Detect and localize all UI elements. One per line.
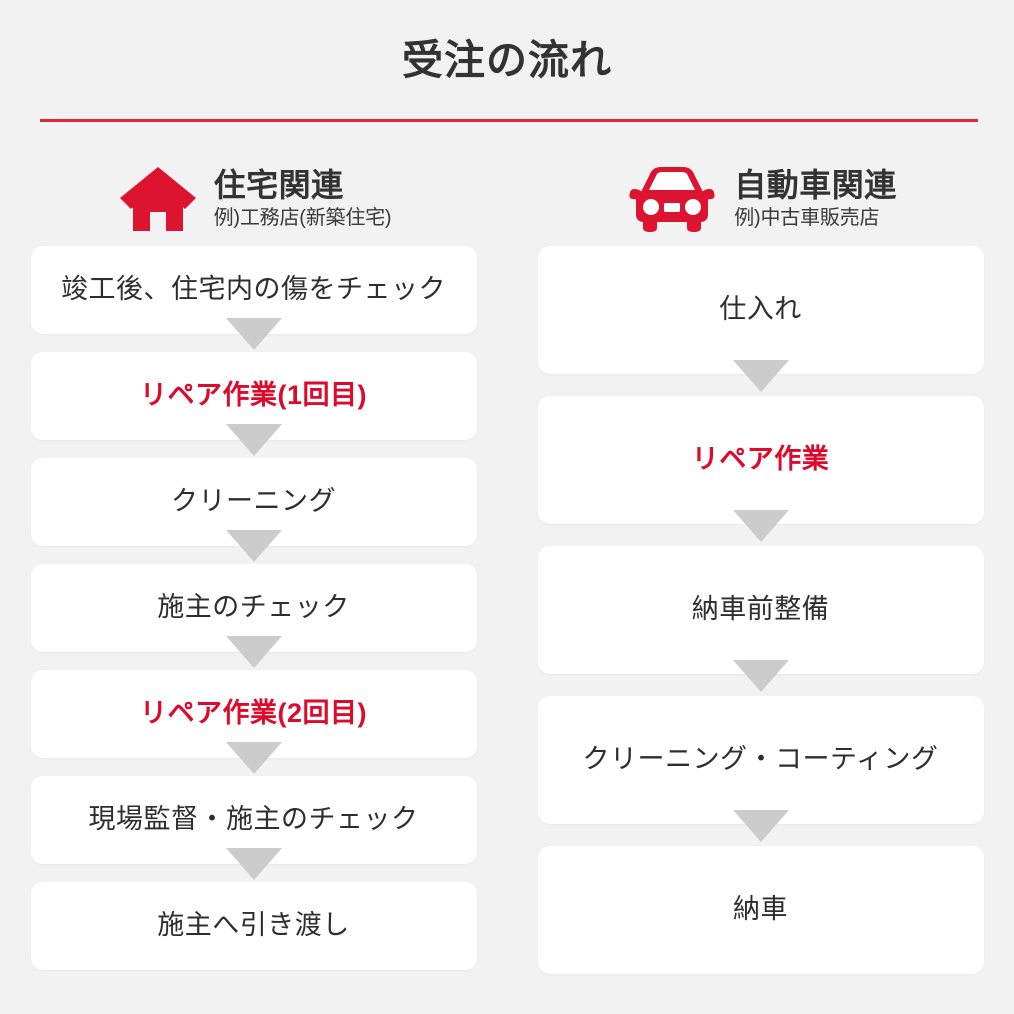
arrow-down-icon <box>226 636 282 668</box>
step-card[interactable]: 納車 <box>538 846 984 974</box>
arrow-down-icon <box>733 660 789 692</box>
step-label: 施主へ引き渡し <box>145 909 362 943</box>
column-title-housing: 住宅関連 <box>214 168 392 204</box>
step-card[interactable]: 納車前整備 <box>538 546 984 674</box>
step-card[interactable]: 現場監督・施主のチェック <box>31 776 477 864</box>
column-header-automotive: 自動車関連 例)中古車販売店 <box>507 152 1014 246</box>
column-title-automotive: 自動車関連 <box>734 168 897 204</box>
arrow-down-icon <box>733 360 789 392</box>
arrow-down-icon <box>226 848 282 880</box>
column-header-text-housing: 住宅関連 例)工務店(新築住宅) <box>214 168 392 230</box>
step-card[interactable]: 竣工後、住宅内の傷をチェック <box>31 246 477 334</box>
steps-housing: 竣工後、住宅内の傷をチェック リペア作業(1回目) クリーニング 施主のチェック… <box>0 246 507 970</box>
step-card[interactable]: 施主のチェック <box>31 564 477 652</box>
arrow-down-icon <box>733 810 789 842</box>
step-label: 納車前整備 <box>680 593 842 627</box>
arrow-down-icon <box>226 424 282 456</box>
column-header-housing: 住宅関連 例)工務店(新築住宅) <box>0 152 507 246</box>
steps-automotive: 仕入れ リペア作業 納車前整備 クリーニング・コーティング 納車 <box>507 246 1014 974</box>
arrow-down-icon <box>226 530 282 562</box>
column-housing: 住宅関連 例)工務店(新築住宅) 竣工後、住宅内の傷をチェック リペア作業(1回… <box>0 152 507 974</box>
page-title: 受注の流れ <box>0 0 1014 81</box>
step-label: 仕入れ <box>707 293 814 327</box>
step-label: リペア作業(1回目) <box>128 379 379 413</box>
step-label: 施主のチェック <box>145 591 362 625</box>
step-card[interactable]: リペア作業(1回目) <box>31 352 477 440</box>
step-label: リペア作業(2回目) <box>128 697 379 731</box>
arrow-down-icon <box>226 318 282 350</box>
house-icon <box>116 163 200 235</box>
step-label: クリーニング <box>159 485 348 519</box>
step-label: 竣工後、住宅内の傷をチェック <box>49 273 458 307</box>
arrow-down-icon <box>733 510 789 542</box>
column-subtitle-housing: 例)工務店(新築住宅) <box>214 206 392 230</box>
step-label: 納車 <box>721 893 800 927</box>
step-card[interactable]: クリーニング・コーティング <box>538 696 984 824</box>
title-divider-rule <box>40 119 978 122</box>
arrow-down-icon <box>226 742 282 774</box>
step-card[interactable]: リペア作業(2回目) <box>31 670 477 758</box>
step-label: 現場監督・施主のチェック <box>77 803 431 837</box>
step-label: リペア作業 <box>680 443 842 477</box>
step-card[interactable]: 仕入れ <box>538 246 984 374</box>
column-subtitle-automotive: 例)中古車販売店 <box>734 206 897 230</box>
step-label: クリーニング・コーティング <box>571 743 951 777</box>
step-card[interactable]: リペア作業 <box>538 396 984 524</box>
column-header-text-automotive: 自動車関連 例)中古車販売店 <box>734 168 897 230</box>
step-card[interactable]: クリーニング <box>31 458 477 546</box>
column-automotive: 自動車関連 例)中古車販売店 仕入れ リペア作業 納車前整備 クリーニング・コー… <box>507 152 1014 974</box>
step-card[interactable]: 施主へ引き渡し <box>31 882 477 970</box>
car-icon <box>624 163 720 235</box>
flow-columns: 住宅関連 例)工務店(新築住宅) 竣工後、住宅内の傷をチェック リペア作業(1回… <box>0 152 1014 974</box>
